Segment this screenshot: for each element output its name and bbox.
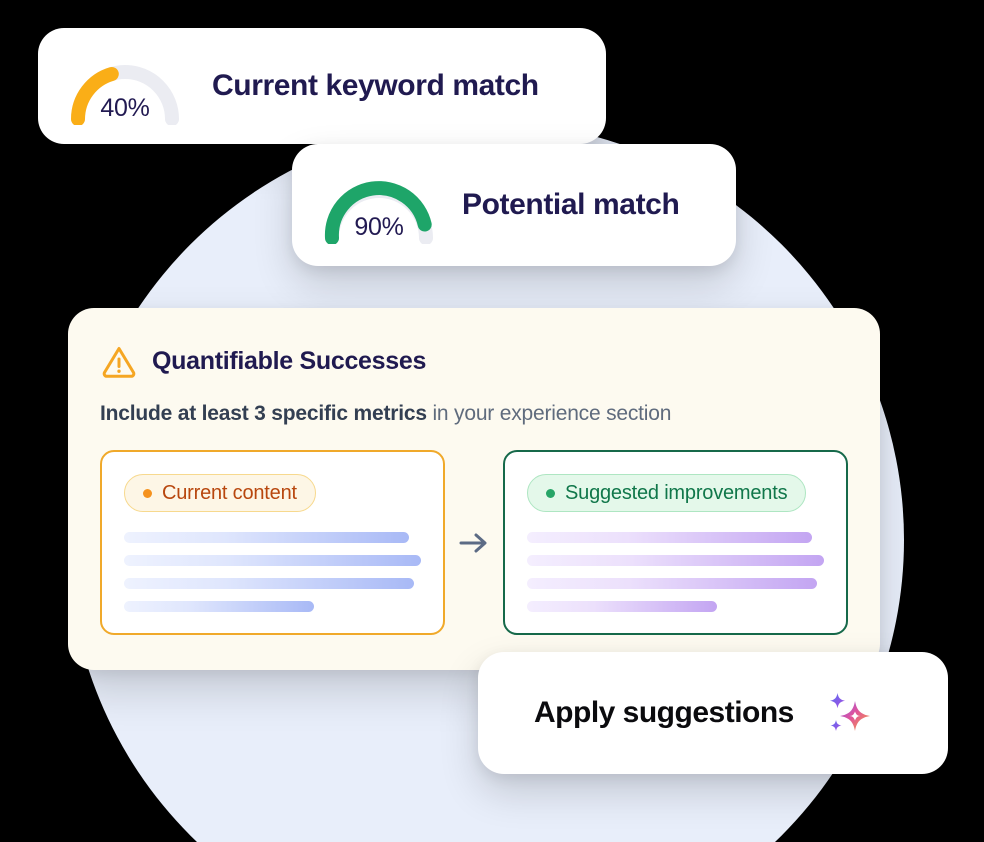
skeleton-line: [527, 578, 817, 589]
current-keyword-match-card: 40% Current keyword match: [38, 28, 606, 144]
apply-suggestions-button[interactable]: Apply suggestions: [478, 652, 948, 774]
skeleton-line: [527, 555, 824, 566]
arrow-container: [445, 450, 503, 635]
skeleton-line: [124, 578, 414, 589]
skeleton-line: [124, 532, 409, 543]
suggestion-header: Quantifiable Successes: [100, 342, 848, 380]
current-content-pill: Current content: [124, 474, 316, 512]
quantifiable-successes-card: Quantifiable Successes Include at least …: [68, 308, 880, 670]
skeleton-line: [124, 555, 421, 566]
current-keyword-gauge: 40%: [64, 47, 186, 125]
current-content-pill-label: Current content: [162, 482, 297, 505]
suggestion-title: Quantifiable Successes: [152, 347, 426, 376]
comparison-panels: Current content: [100, 450, 848, 635]
green-dot-icon: [546, 489, 555, 498]
suggested-improvements-panel: Suggested improvements: [503, 450, 848, 635]
orange-dot-icon: [143, 489, 152, 498]
suggestion-description-rest: in your experience section: [427, 402, 671, 425]
skeleton-line: [527, 532, 812, 543]
screenshot-stage: 40% Current keyword match 90% Potential …: [0, 0, 984, 842]
apply-suggestions-label: Apply suggestions: [534, 696, 794, 730]
current-keyword-gauge-value: 40%: [64, 94, 186, 123]
potential-match-gauge-value: 90%: [318, 213, 440, 242]
suggested-improvements-lines: [527, 532, 824, 612]
skeleton-line: [124, 601, 314, 612]
current-content-panel: Current content: [100, 450, 445, 635]
suggestion-description: Include at least 3 specific metrics in y…: [100, 402, 848, 426]
current-keyword-match-label: Current keyword match: [212, 69, 539, 103]
potential-match-gauge: 90%: [318, 166, 440, 244]
suggested-improvements-pill: Suggested improvements: [527, 474, 806, 512]
suggestion-description-strong: Include at least 3 specific metrics: [100, 402, 427, 425]
warning-triangle-icon: [100, 342, 138, 380]
sparkle-icon: [822, 685, 878, 741]
current-content-lines: [124, 532, 421, 612]
arrow-right-icon: [459, 531, 489, 555]
skeleton-line: [527, 601, 717, 612]
suggested-improvements-pill-label: Suggested improvements: [565, 482, 787, 505]
potential-match-label: Potential match: [462, 188, 679, 222]
potential-match-card: 90% Potential match: [292, 144, 736, 266]
